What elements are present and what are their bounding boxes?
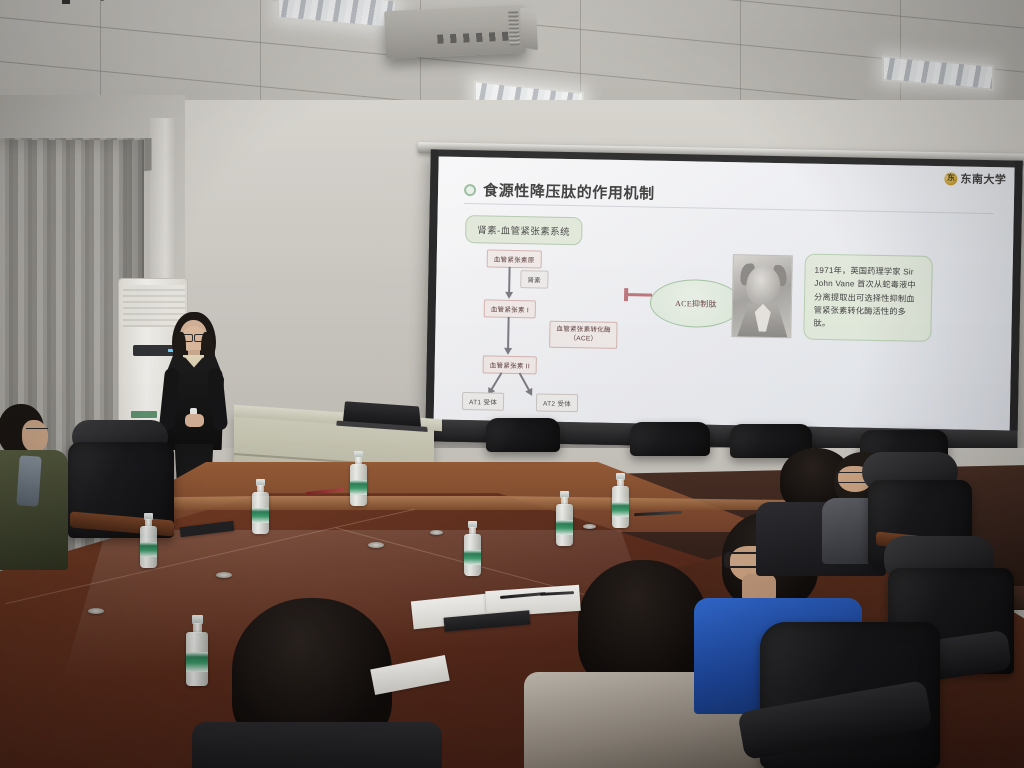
ceiling-projector bbox=[384, 5, 526, 59]
table-cable-grommet[interactable] bbox=[583, 524, 596, 529]
flow-arrow-at1 bbox=[490, 372, 502, 390]
table-cable-grommet[interactable] bbox=[88, 608, 104, 614]
scientist-portrait-photo bbox=[731, 254, 793, 338]
conference-room-photo: 东 东南大学 食源性降压肽的作用机制 肾素-血管紧张素系统 血管紧张素原 肾素 … bbox=[0, 0, 1024, 768]
flow-node-angiotensinogen: 血管紧张素原 bbox=[487, 249, 542, 268]
flow-node-ace-enzyme: 血管紧张素转化酶 （ACE） bbox=[549, 321, 618, 349]
inhibition-symbol bbox=[626, 293, 652, 296]
projection-screen: 东 东南大学 食源性降压肽的作用机制 肾素-血管紧张素系统 血管紧张素原 肾素 … bbox=[425, 149, 1022, 452]
water-bottle[interactable] bbox=[464, 520, 481, 576]
flow-arrow bbox=[508, 267, 510, 293]
table-cable-grommet[interactable] bbox=[216, 572, 232, 578]
system-label-box: 肾素-血管紧张素系统 bbox=[465, 215, 582, 245]
projector-cables bbox=[20, 0, 135, 14]
audience-shoulders bbox=[192, 722, 442, 768]
table-cable-grommet[interactable] bbox=[368, 542, 384, 548]
table-cable-grommet[interactable] bbox=[430, 530, 443, 535]
emblem-glyph: 东 bbox=[947, 174, 955, 182]
screen-surface: 东 东南大学 食源性降压肽的作用机制 肾素-血管紧张素系统 血管紧张素原 肾素 … bbox=[434, 156, 1015, 430]
flow-node-angiotensin-2: 血管紧张素 II bbox=[483, 355, 538, 374]
slide-title-row: 食源性降压肽的作用机制 bbox=[464, 179, 655, 204]
audience-shirt bbox=[16, 455, 41, 506]
water-bottle[interactable] bbox=[186, 614, 208, 686]
title-divider bbox=[464, 203, 994, 214]
presentation-slide: 东 东南大学 食源性降压肽的作用机制 肾素-血管紧张素系统 血管紧张素原 肾素 … bbox=[434, 156, 1015, 430]
audience-face bbox=[22, 420, 48, 452]
history-quote-box: 1971年，英国药理学家 Sir John Vane 首次从蛇毒液中分离提取出可… bbox=[803, 254, 933, 343]
flow-node-renin: 肾素 bbox=[520, 270, 548, 289]
water-bottle[interactable] bbox=[556, 490, 573, 546]
university-emblem-icon: 东 bbox=[944, 172, 957, 185]
presenter-hands bbox=[185, 414, 204, 427]
university-name: 东南大学 bbox=[960, 171, 1006, 188]
flow-arrow bbox=[507, 317, 510, 349]
flow-node-at2: AT2 受体 bbox=[536, 393, 578, 412]
title-bullet-icon bbox=[464, 183, 476, 195]
water-bottle[interactable] bbox=[140, 512, 157, 568]
university-logo: 东 东南大学 bbox=[944, 170, 1006, 187]
water-bottle[interactable] bbox=[252, 478, 269, 534]
portrait-head bbox=[746, 265, 781, 306]
audience-left-olive-jacket bbox=[0, 404, 96, 584]
audience-glasses bbox=[26, 428, 48, 434]
water-bottle[interactable] bbox=[612, 472, 629, 528]
audience-head bbox=[578, 560, 708, 690]
presenter-laptop[interactable] bbox=[343, 401, 421, 427]
projector-ports bbox=[437, 31, 515, 43]
flow-node-angiotensin-1: 血管紧张素 I bbox=[484, 299, 537, 318]
water-bottle[interactable] bbox=[350, 450, 367, 506]
slide-title: 食源性降压肽的作用机制 bbox=[483, 179, 655, 203]
flow-node-at1: AT1 受体 bbox=[462, 392, 504, 411]
flow-arrow-at2 bbox=[519, 373, 530, 391]
